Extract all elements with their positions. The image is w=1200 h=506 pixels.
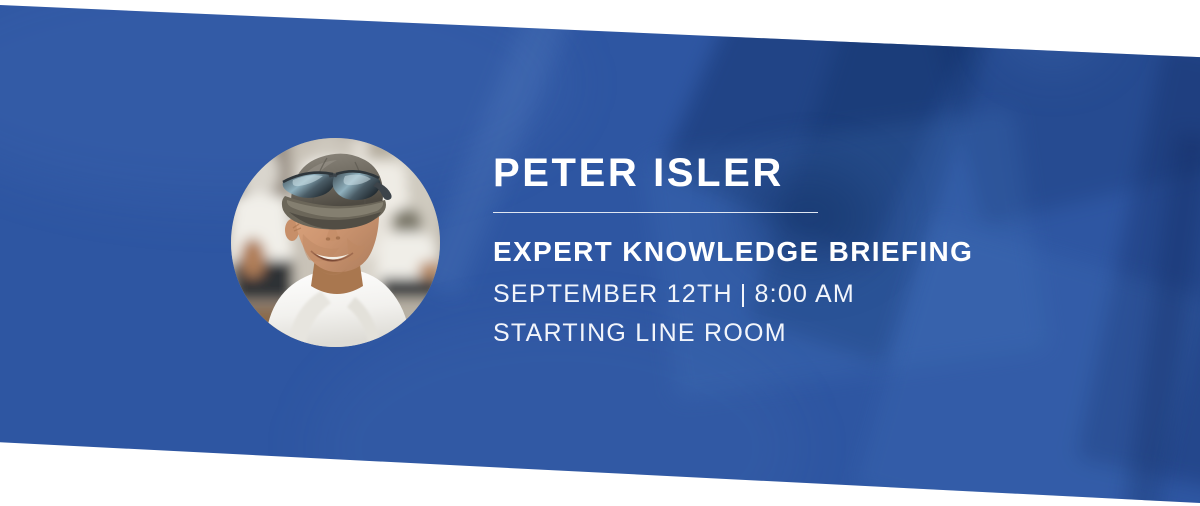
event-date: SEPTEMBER 12TH — [493, 280, 733, 308]
speaker-text-block: PETER ISLER EXPERT KNOWLEDGE BRIEFING SE… — [493, 152, 1093, 348]
event-time: 8:00 AM — [755, 280, 855, 308]
event-location: STARTING LINE ROOM — [493, 318, 1093, 348]
banner-angled-panel: PETER ISLER EXPERT KNOWLEDGE BRIEFING SE… — [0, 0, 1200, 506]
speaker-portrait — [231, 138, 440, 347]
speaker-name: PETER ISLER — [493, 152, 1093, 195]
event-datetime: SEPTEMBER 12TH|8:00 AM — [493, 279, 1093, 309]
title-divider — [493, 212, 818, 213]
speaker-banner: PETER ISLER EXPERT KNOWLEDGE BRIEFING SE… — [0, 0, 1200, 506]
datetime-separator: | — [733, 280, 755, 308]
event-title: EXPERT KNOWLEDGE BRIEFING — [493, 235, 1093, 269]
